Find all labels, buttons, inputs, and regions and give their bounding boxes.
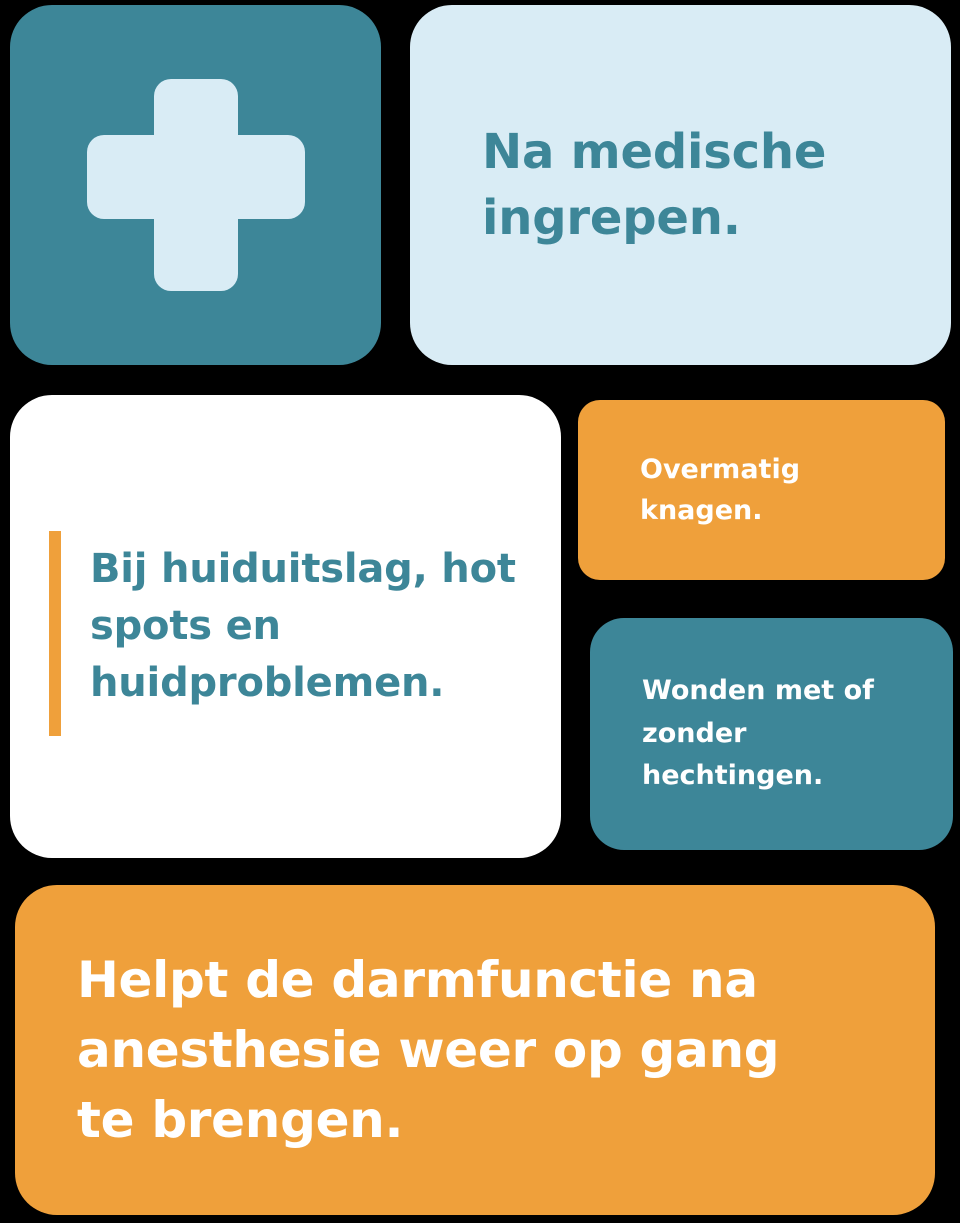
medical-cross-icon bbox=[87, 79, 305, 291]
cross-vertical-bar bbox=[154, 79, 238, 291]
excessive-chewing-card: Overmatig knagen. bbox=[578, 400, 945, 580]
orange-accent-bar bbox=[49, 531, 61, 736]
bowel-function-headline: Helpt de darmfunctie na anesthesie weer … bbox=[77, 945, 837, 1155]
wounds-headline: Wonden met of zonder hechtingen. bbox=[642, 670, 882, 798]
medical-procedures-headline: Na medische ingrepen. bbox=[482, 119, 882, 251]
skin-conditions-card: Bij huiduitslag, hot spots en huidproble… bbox=[10, 395, 561, 858]
skin-conditions-headline: Bij huiduitslag, hot spots en huidproble… bbox=[90, 541, 535, 711]
medical-cross-card bbox=[10, 5, 381, 365]
medical-procedures-card: Na medische ingrepen. bbox=[410, 5, 951, 365]
excessive-chewing-headline: Overmatig knagen. bbox=[640, 449, 890, 531]
infographic-stage: Na medische ingrepen. Bij huiduitslag, h… bbox=[0, 0, 960, 1223]
bowel-function-card: Helpt de darmfunctie na anesthesie weer … bbox=[15, 885, 935, 1215]
wounds-card: Wonden met of zonder hechtingen. bbox=[590, 618, 953, 850]
